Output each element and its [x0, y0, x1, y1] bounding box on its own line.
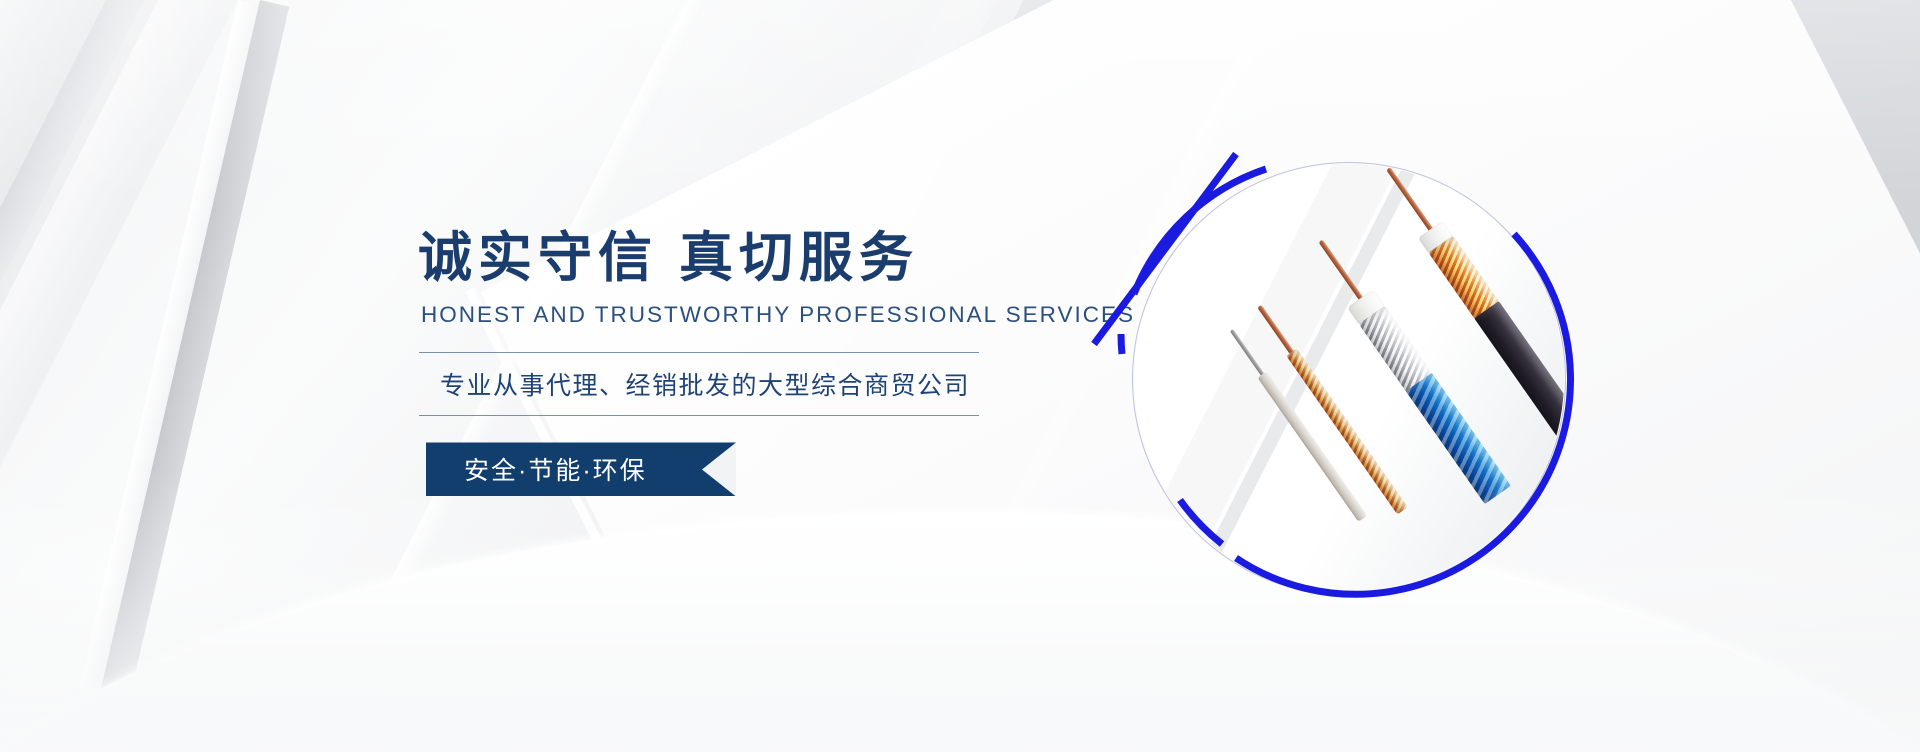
circle-accent-lines [1118, 148, 1580, 610]
ribbon-label: 安全·节能·环保 [426, 442, 736, 496]
product-photo-circle: ՈՐՈ-ՅԵ [1118, 148, 1580, 610]
divider-top [419, 352, 979, 353]
promo-banner: 诚实守信 真切服务 HONEST AND TRUSTWORTHY PROFESS… [0, 0, 1920, 752]
page-subtitle: HONEST AND TRUSTWORTHY PROFESSIONAL SERV… [421, 302, 1078, 328]
page-title: 诚实守信 真切服务 [418, 228, 1078, 288]
tagline-text: 专业从事代理、经销批发的大型综合商贸公司 [418, 353, 1078, 415]
feature-ribbon: 安全·节能·环保 [426, 442, 736, 496]
divider-bottom [419, 415, 979, 416]
headline-block: 诚实守信 真切服务 HONEST AND TRUSTWORTHY PROFESS… [418, 228, 1078, 496]
